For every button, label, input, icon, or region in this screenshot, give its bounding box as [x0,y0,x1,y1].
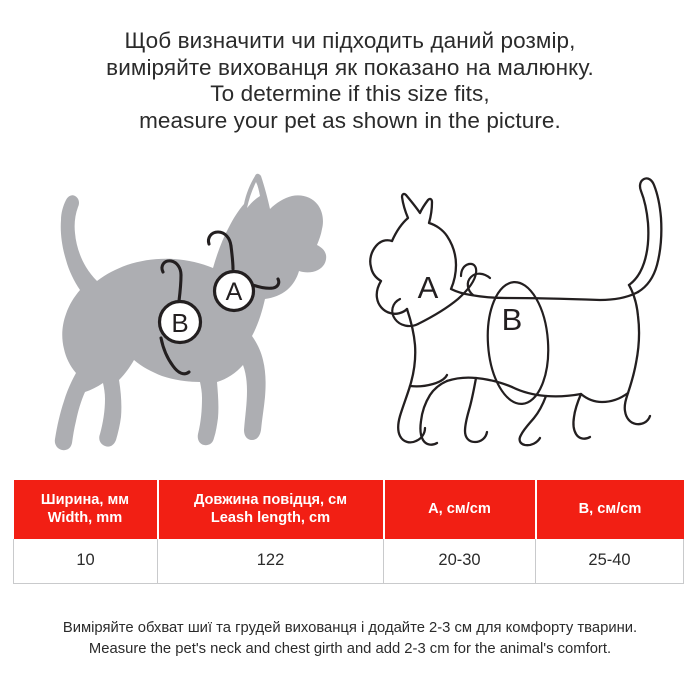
dog-label-a-text: A [226,278,243,306]
footer-line-ua: Виміряйте обхват шиї та грудей вихованця… [0,618,700,639]
column-header-leash-length: Довжина повідця, см Leash length, cm [158,480,384,539]
column-header-b: B, см/cm [536,480,684,539]
column-header-a: A, см/cm [384,480,536,539]
cell-width-value: 10 [14,539,158,583]
cell-b-value: 25-40 [536,539,684,583]
dog-label-a: A [215,272,254,311]
column-header-leash-length-ua: Довжина повідця, см [163,491,379,509]
size-table-body: 10 122 20-30 25-40 [14,539,684,583]
size-table-header: Ширина, мм Width, mm Довжина повідця, см… [14,480,684,539]
column-header-width-en: Width, mm [18,509,153,527]
table-row: 10 122 20-30 25-40 [14,539,684,583]
cat-label-a-text: A [418,270,439,305]
column-header-width: Ширина, мм Width, mm [14,480,158,539]
dog-illustration: A B [18,168,338,468]
cat-label-b-text: B [502,302,523,337]
footer-line-en: Measure the pet's neck and chest girth a… [0,639,700,660]
heading-line-en-2: measure your pet as shown in the picture… [0,108,700,135]
column-header-b-label: B, см/cm [541,500,680,518]
size-guide-page: Щоб визначити чи підходить даний розмір,… [0,0,700,700]
measurement-note: Виміряйте обхват шиї та грудей вихованця… [0,618,700,660]
instruction-heading: Щоб визначити чи підходить даний розмір,… [0,28,700,134]
column-header-a-label: A, см/cm [389,500,531,518]
column-header-leash-length-en: Leash length, cm [163,509,379,527]
table-header-row: Ширина, мм Width, mm Довжина повідця, см… [14,480,684,539]
illustration-row: A B [0,168,700,468]
heading-line-en-1: To determine if this size fits, [0,81,700,108]
cat-illustration: A B [348,168,688,468]
heading-line-ua-2: виміряйте вихованця як показано на малюн… [0,55,700,82]
dog-label-b-text: B [171,308,188,338]
cell-leash-length-value: 122 [158,539,384,583]
size-table: Ширина, мм Width, mm Довжина повідця, см… [13,480,684,584]
dog-label-b: B [160,302,201,343]
heading-line-ua-1: Щоб визначити чи підходить даний розмір, [0,28,700,55]
cell-a-value: 20-30 [384,539,536,583]
column-header-width-ua: Ширина, мм [18,491,153,509]
